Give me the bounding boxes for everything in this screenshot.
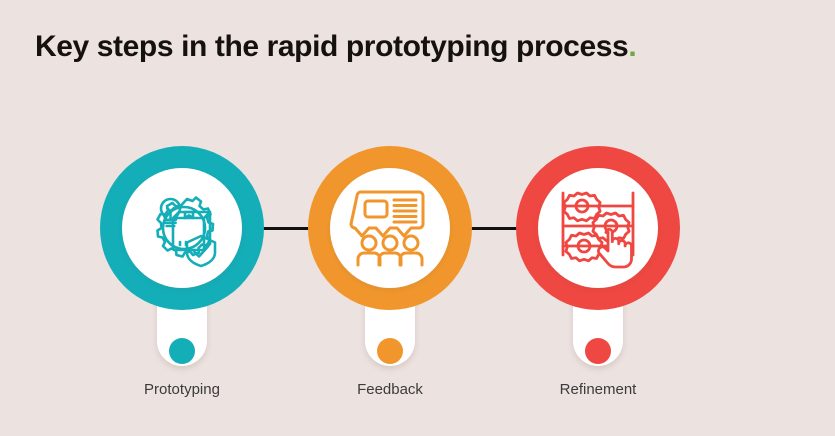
page-title-text: Key steps in the rapid prototyping proce… [35,30,628,63]
gear-lightbulb-box-shield-check-icon [140,186,224,270]
presentation-board-audience-icon [348,186,432,270]
icon-disc-refinement [538,168,658,288]
pin-dot-feedback [377,338,403,364]
slider-gears-pointing-hand-icon [556,186,640,270]
step-label-feedback: Feedback [290,381,490,398]
step-node-prototyping[interactable] [100,146,264,310]
connector-line-2 [470,227,522,230]
step-label-prototyping: Prototyping [82,381,282,398]
step-label-refinement: Refinement [498,381,698,398]
page-title-period: . [628,30,636,63]
icon-disc-feedback [330,168,450,288]
pin-dot-refinement [585,338,611,364]
page-title: Key steps in the rapid prototyping proce… [35,30,636,64]
connector-line-1 [262,227,314,230]
pin-dot-prototyping [169,338,195,364]
infographic-canvas: Key steps in the rapid prototyping proce… [0,0,835,436]
icon-disc-prototyping [122,168,242,288]
step-node-refinement[interactable] [516,146,680,310]
step-node-feedback[interactable] [308,146,472,310]
